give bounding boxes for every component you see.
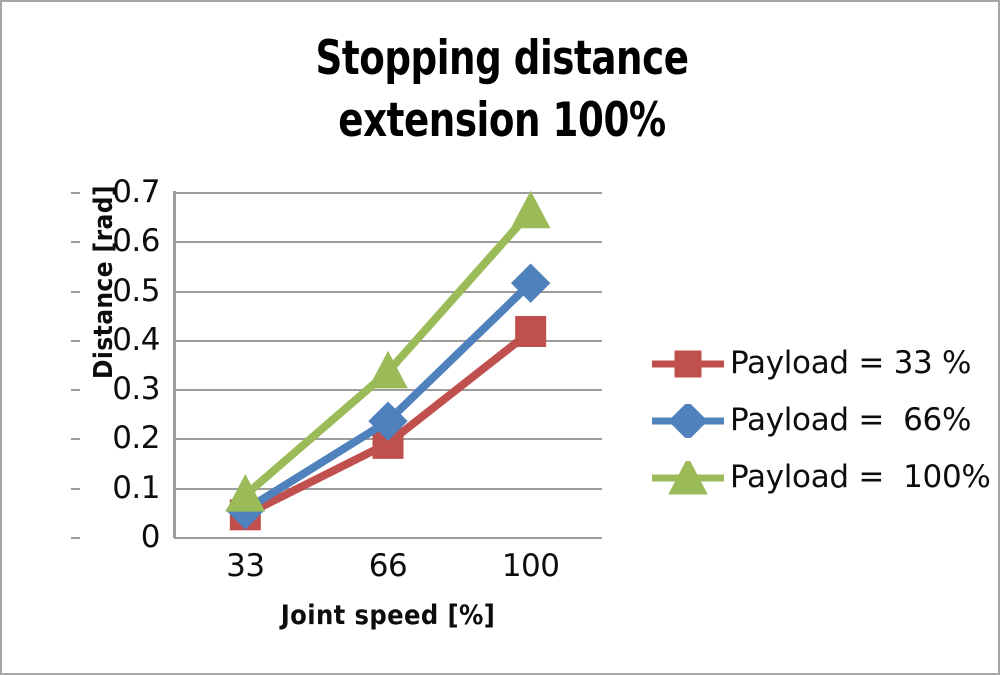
legend-key-diamond-icon (650, 404, 726, 438)
legend-entry[interactable]: Payload = 66% (650, 392, 991, 449)
chart-title-line-1: Stopping distance (62, 28, 942, 90)
square-marker (516, 316, 546, 346)
x-tick-label: 100 (471, 551, 591, 582)
legend-key-triangle-icon (650, 461, 726, 495)
series-line (245, 283, 530, 510)
y-tick-label: 0.3 (112, 374, 160, 405)
chart-title: Stopping distance extension 100% (62, 28, 942, 152)
chart-legend: Payload = 33 %Payload = 66%Payload = 100… (650, 335, 991, 506)
y-tick-label: 0.6 (112, 226, 160, 257)
legend-key-glyph (650, 347, 726, 381)
chart-figure: Stopping distance extension 100% Distanc… (0, 0, 1000, 675)
y-tick-label: 0 (141, 522, 160, 553)
y-tick-label: 0.4 (112, 325, 160, 356)
legend-key-glyph (650, 404, 726, 438)
y-tick-mark (71, 241, 80, 243)
legend-key-square-icon (650, 347, 726, 381)
x-tick-label: 33 (185, 551, 305, 582)
legend-label: Payload = 66% (730, 405, 971, 436)
diamond-marker (669, 404, 707, 438)
y-tick-mark (71, 291, 80, 293)
y-tick-mark (71, 389, 80, 391)
legend-key-glyph (650, 461, 726, 495)
y-axis-tick-labels: 0.70.60.50.40.30.20.10 (80, 2, 160, 675)
triangle-marker (512, 192, 550, 228)
legend-label: Payload = 100% (730, 462, 991, 493)
series-plot (174, 192, 602, 537)
legend-entry[interactable]: Payload = 100% (650, 449, 991, 506)
y-tick-mark (71, 192, 80, 194)
series-2 (226, 264, 549, 529)
gridline (174, 537, 602, 539)
y-tick-mark (71, 438, 80, 440)
y-tick-label: 0.1 (112, 473, 160, 504)
y-tick-label: 0.5 (112, 276, 160, 307)
square-marker (675, 351, 701, 377)
y-tick-label: 0.2 (112, 423, 160, 454)
y-tick-mark (71, 537, 80, 539)
plot-area (174, 192, 602, 537)
y-tick-mark (71, 488, 80, 490)
x-tick-label: 66 (328, 551, 448, 582)
y-tick-mark (71, 340, 80, 342)
x-axis-title: Joint speed [%] (174, 600, 602, 631)
legend-entry[interactable]: Payload = 33 % (650, 335, 991, 392)
chart-title-line-2: extension 100% (62, 90, 942, 152)
y-tick-label: 0.7 (112, 177, 160, 208)
legend-label: Payload = 33 % (730, 348, 971, 379)
